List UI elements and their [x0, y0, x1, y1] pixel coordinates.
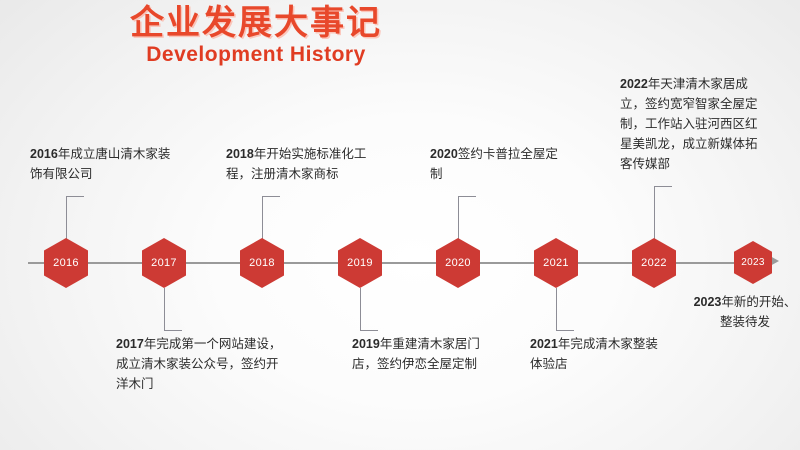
- timeline-note-2023: 2023年新的开始、整装待发: [693, 292, 797, 332]
- timeline-note-2020: 2020签约卡普拉全屋定制: [430, 144, 570, 184]
- timeline-node-2020[interactable]: 2020: [436, 238, 480, 288]
- page-title-en: Development History: [46, 42, 466, 68]
- timeline-node-label: 2018: [249, 258, 275, 269]
- note-year: 2018: [226, 147, 254, 161]
- timeline-note-2019: 2019年重建清木家居门店，签约伊恋全屋定制: [352, 334, 480, 374]
- note-body: 年天津清木家居成立，签约宽窄智家全屋定制，工作站入驻河西区红星美凯龙，成立新媒体…: [620, 77, 758, 171]
- slide-canvas: 企业发展大事记 Development History 2016 2016年成立…: [0, 0, 800, 450]
- note-year: 2020: [430, 147, 458, 161]
- note-year: 2023: [694, 295, 722, 309]
- note-year: 2019: [352, 337, 380, 351]
- note-year: 2021: [530, 337, 558, 351]
- timeline-node-label: 2016: [53, 258, 79, 269]
- timeline-node-label: 2023: [741, 258, 764, 268]
- timeline-note-2016: 2016年成立唐山清木家装饰有限公司: [30, 144, 180, 184]
- timeline-node-label: 2017: [151, 258, 177, 269]
- timeline-node-2016[interactable]: 2016: [44, 238, 88, 288]
- timeline-node-label: 2022: [641, 258, 667, 269]
- timeline-note-2021: 2021年完成清木家整装体验店: [530, 334, 660, 374]
- note-year: 2017: [116, 337, 144, 351]
- page-title-cn: 企业发展大事记: [46, 2, 466, 44]
- note-year: 2016: [30, 147, 58, 161]
- timeline-note-2022: 2022年天津清木家居成立，签约宽窄智家全屋定制，工作站入驻河西区红星美凯龙，成…: [620, 74, 760, 174]
- note-year: 2022: [620, 77, 648, 91]
- timeline-node-label: 2019: [347, 258, 373, 269]
- timeline-node-2022[interactable]: 2022: [632, 238, 676, 288]
- timeline-node-2021[interactable]: 2021: [534, 238, 578, 288]
- timeline-node-2018[interactable]: 2018: [240, 238, 284, 288]
- timeline-note-2017: 2017年完成第一个网站建设，成立清木家装公众号，签约开洋木门: [116, 334, 286, 394]
- timeline-node-label: 2020: [445, 258, 471, 269]
- timeline-node-2017[interactable]: 2017: [142, 238, 186, 288]
- timeline-node-2023[interactable]: 2023: [734, 241, 772, 284]
- timeline-note-2018: 2018年开始实施标准化工程，注册清木家商标: [226, 144, 376, 184]
- timeline-node-label: 2021: [543, 258, 569, 269]
- note-body: 年新的开始、整装待发: [720, 295, 796, 329]
- timeline-node-2019[interactable]: 2019: [338, 238, 382, 288]
- title-block: 企业发展大事记 Development History: [46, 2, 466, 68]
